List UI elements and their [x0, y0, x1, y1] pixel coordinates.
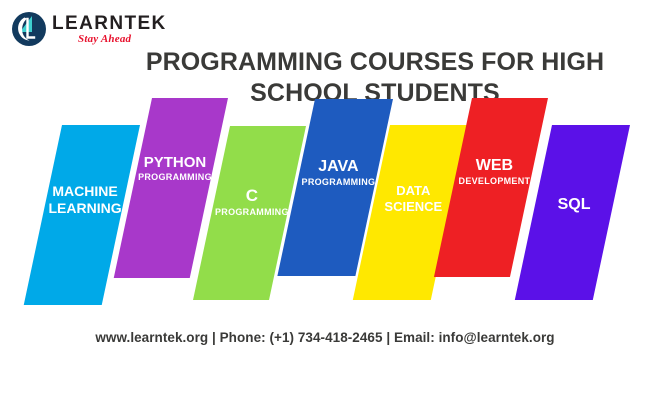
infographic-poster: LEARNTEK Stay Ahead PROGRAMMING COURSES …	[0, 0, 650, 400]
course-name-primary: PYTHON	[137, 154, 213, 172]
course-bar-label-machine-learning: MACHINELEARNING	[46, 183, 124, 217]
course-name-primary: MACHINE	[46, 183, 124, 200]
course-bar-label-data-science: DATASCIENCE	[374, 183, 452, 215]
course-name-primary: SQL	[535, 195, 613, 215]
course-name-secondary: LEARNING	[46, 200, 124, 217]
course-name-primary: WEB	[456, 156, 532, 176]
course-bar-label-java-programming: JAVAPROGRAMMING	[299, 157, 377, 187]
course-bar-machine-learning[interactable]: MACHINELEARNING	[24, 125, 140, 305]
course-bar-label-c-programming: CPROGRAMMING	[214, 186, 290, 218]
course-name-secondary: PROGRAMMING	[299, 177, 377, 188]
course-name-secondary: SCIENCE	[374, 199, 452, 215]
course-bar-label-sql: SQL	[535, 195, 613, 215]
course-bar-label-web-development: WEBDEVELOPMENT	[456, 156, 532, 186]
course-bar-label-python-programming: PYTHONPROGRAMMING	[137, 154, 213, 183]
course-name-secondary: PROGRAMMING	[214, 207, 290, 218]
course-name-primary: C	[214, 186, 290, 207]
course-name-primary: JAVA	[299, 157, 377, 177]
course-name-secondary: DEVELOPMENT	[456, 176, 532, 187]
footer-contact-line[interactable]: www.learntek.org | Phone: (+1) 734-418-2…	[0, 330, 650, 345]
course-name-secondary: PROGRAMMING	[137, 172, 213, 183]
course-name-primary: DATA	[374, 183, 452, 199]
